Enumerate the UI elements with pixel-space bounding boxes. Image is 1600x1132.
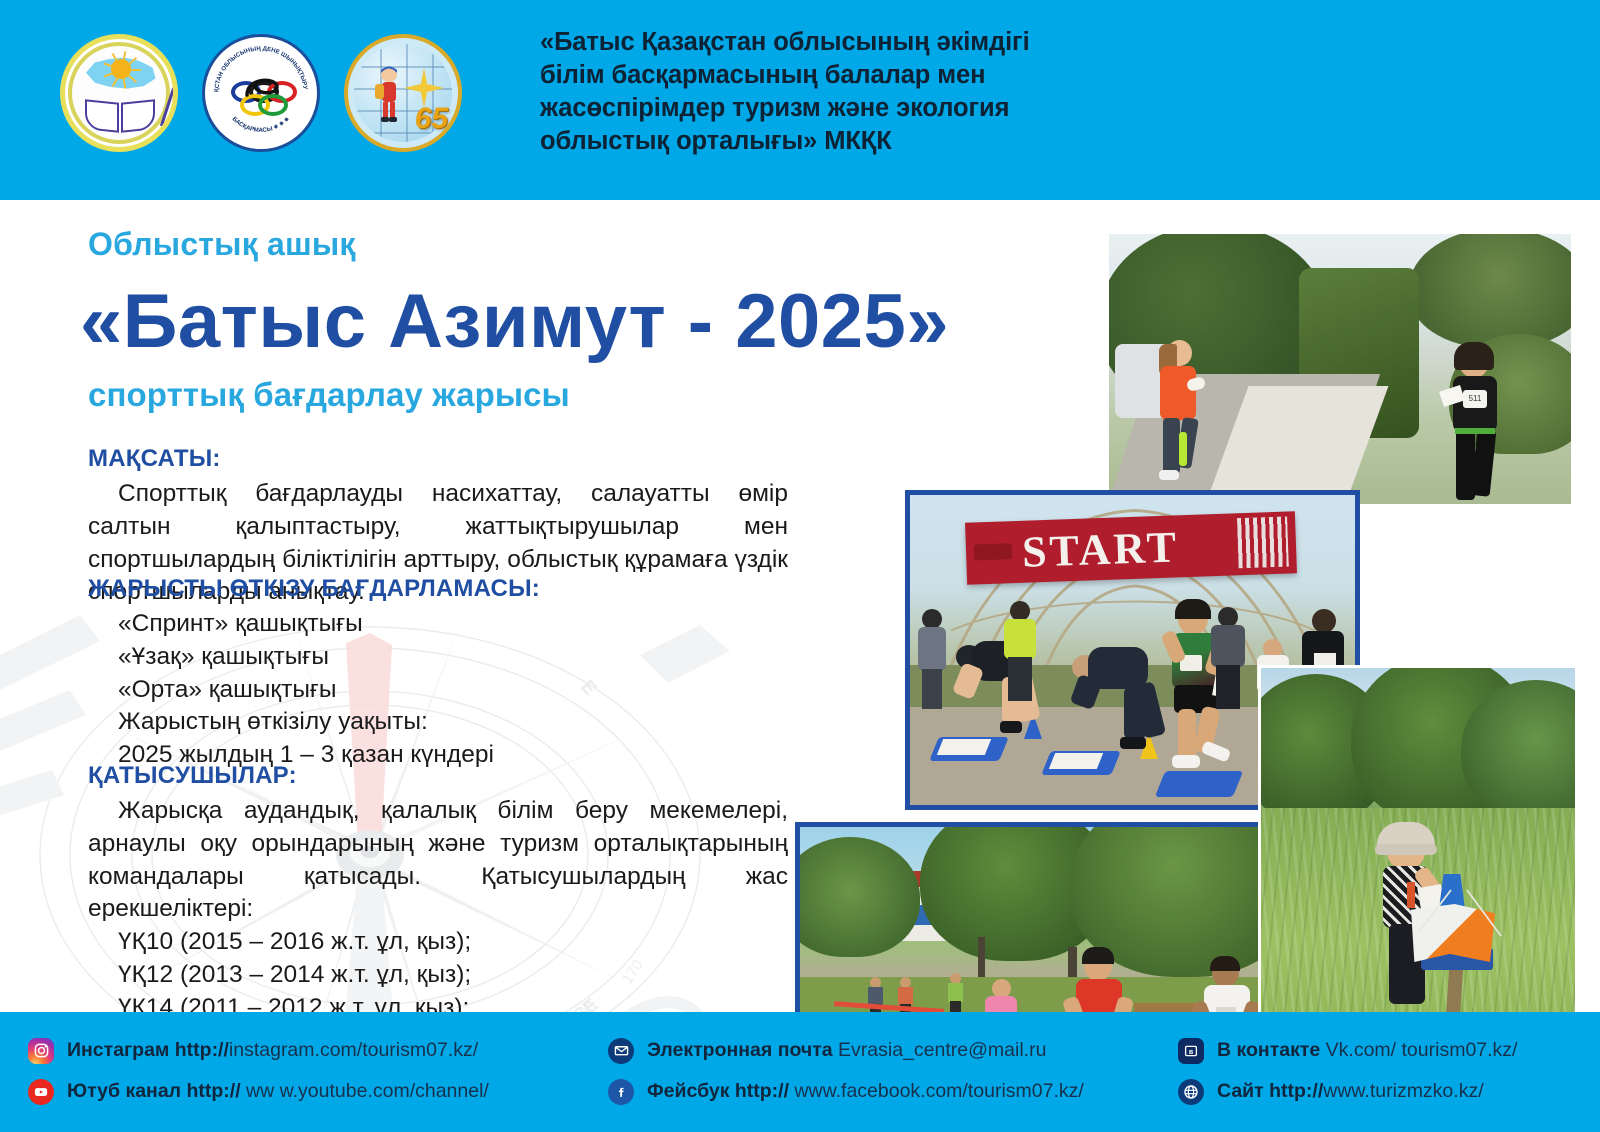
footer-link-instagram[interactable]: Инстаграм http://instagram.com/tourism07… — [28, 1030, 489, 1071]
pen-icon — [160, 88, 175, 127]
flag-strings — [1411, 882, 1507, 972]
footer-link-value: www.turizmzko.kz/ — [1323, 1080, 1483, 1102]
section-program: ЖАРЫСТЫ ӨТКІЗУ БАҒДАРЛАМАСЫ: «Спринт» қа… — [88, 575, 788, 772]
section-participants: ҚАТЫСУШЫЛАР: Жарысқа аудандық, қалалық б… — [88, 762, 788, 1012]
footer-link-email[interactable]: Электронная почта Evrasia_centre@mail.ru — [608, 1030, 1084, 1071]
page-footer: Инстаграм http://instagram.com/tourism07… — [0, 1012, 1600, 1132]
photo-orienteering-girls: 511 — [1105, 230, 1575, 508]
photo-park-runners — [795, 822, 1285, 1012]
footer-column-2: Электронная почта Evrasia_centre@mail.ru… — [608, 1030, 1084, 1112]
footer-column-1: Инстаграм http://instagram.com/tourism07… — [28, 1030, 489, 1112]
open-book-icon — [85, 97, 155, 133]
start-banner: START — [965, 511, 1297, 584]
qr-code-icon — [1237, 517, 1289, 569]
hiker-boy-icon — [372, 66, 406, 128]
list-item: ҮҚ14 (2011 – 2012 ж.т. ұл, қыз); — [88, 992, 788, 1012]
section-goal-heading: МАҚСАТЫ: — [88, 445, 788, 473]
footer-link-label: Инстаграм http:// — [67, 1039, 229, 1061]
footer-link-value: ww w.youtube.com/channel/ — [241, 1080, 489, 1102]
footer-link-label: Сайт http:// — [1217, 1080, 1323, 1102]
svg-text:в: в — [1189, 1049, 1194, 1056]
footer-link-value: Evrasia_centre@mail.ru — [833, 1039, 1047, 1061]
poster-subtitle: спорттық бағдарлау жарысы — [88, 376, 570, 414]
section-participants-body: Жарысқа аудандық, қалалық білім беру мек… — [88, 795, 788, 926]
logo-group: БАТЫС ҚАЗАҚСТАН ОБЛЫСЫНЫҢ ДЕНЕ ШЫНЫҚТЫРУ… — [60, 34, 462, 152]
sun-icon — [111, 59, 131, 79]
section-participants-heading: ҚАТЫСУШЫЛАР: — [88, 762, 788, 790]
list-item: Жарыстың өткізілу уақыты: — [88, 706, 788, 739]
poster-body: E SE W 170 180 190 200 — [0, 200, 1600, 1012]
footer-link-label: Электронная почта — [647, 1039, 833, 1061]
age-group-list: ҮҚ10 (2015 – 2016 ж.т. ұл, қыз); ҮҚ12 (2… — [88, 926, 788, 1012]
svg-text:БАСҚАРМАСЫ ✷ ✷ ✷: БАСҚАРМАСЫ ✷ ✷ ✷ — [231, 116, 292, 134]
globe-icon — [1178, 1079, 1204, 1105]
list-item: «Спринт» қашықтығы — [88, 608, 788, 641]
bib-number: 511 — [1463, 390, 1487, 408]
footer-link-youtube[interactable]: Ютуб канал http:// ww w.youtube.com/chan… — [28, 1071, 489, 1112]
mail-icon — [608, 1038, 634, 1064]
program-list: «Спринт» қашықтығы «Ұзақ» қашықтығы «Орт… — [88, 608, 788, 772]
organisation-name: «Батыс Қазақстан облысының әкімдігі білі… — [540, 26, 1100, 159]
footer-column-3: в В контакте Vk.com/ tourism07.kz/ Сайт … — [1178, 1030, 1517, 1112]
footer-link-facebook[interactable]: Фейсбук http:// www.facebook.com/tourism… — [608, 1071, 1084, 1112]
footer-link-label: В контакте — [1217, 1039, 1320, 1061]
footer-link-website[interactable]: Сайт http://www.turizmzko.kz/ — [1178, 1071, 1517, 1112]
photo-control-point-flag — [1258, 665, 1578, 1012]
footer-link-label: Ютуб канал http:// — [67, 1080, 241, 1102]
page-header: БАТЫС ҚАЗАҚСТАН ОБЛЫСЫНЫҢ ДЕНЕ ШЫНЫҚТЫРУ… — [0, 0, 1600, 200]
footer-link-label: Фейсбук http:// — [647, 1080, 789, 1102]
youtube-icon — [28, 1079, 54, 1105]
list-item: «Орта» қашықтығы — [88, 674, 788, 707]
poster-title: «Батыс Азимут - 2025» — [80, 278, 949, 365]
instagram-icon — [28, 1038, 54, 1064]
footer-link-value: Vk.com/ tourism07.kz/ — [1320, 1039, 1517, 1061]
swoosh-icon — [243, 65, 285, 99]
poster-kicker: Облыстық ашық — [88, 226, 356, 263]
footer-link-vk[interactable]: в В контакте Vk.com/ tourism07.kz/ — [1178, 1030, 1517, 1071]
list-item: ҮҚ12 (2013 – 2014 ж.т. ұл, қыз); — [88, 959, 788, 992]
sport-department-emblem: БАТЫС ҚАЗАҚСТАН ОБЛЫСЫНЫҢ ДЕНЕ ШЫНЫҚТЫРУ… — [202, 34, 320, 152]
anniversary-65-label: 65 — [415, 102, 448, 136]
footer-link-value: www.facebook.com/tourism07.kz/ — [789, 1080, 1084, 1102]
facebook-icon — [608, 1079, 634, 1105]
footer-link-value: instagram.com/tourism07.kz/ — [229, 1039, 478, 1061]
list-item: «Ұзақ» қашықтығы — [88, 641, 788, 674]
tourism-centre-65-years-emblem: 65 — [344, 34, 462, 152]
education-department-emblem — [60, 34, 178, 152]
section-program-heading: ЖАРЫСТЫ ӨТКІЗУ БАҒДАРЛАМАСЫ: — [88, 575, 788, 603]
vk-icon: в — [1178, 1038, 1204, 1064]
list-item: ҮҚ10 (2015 – 2016 ж.т. ұл, қыз); — [88, 926, 788, 959]
